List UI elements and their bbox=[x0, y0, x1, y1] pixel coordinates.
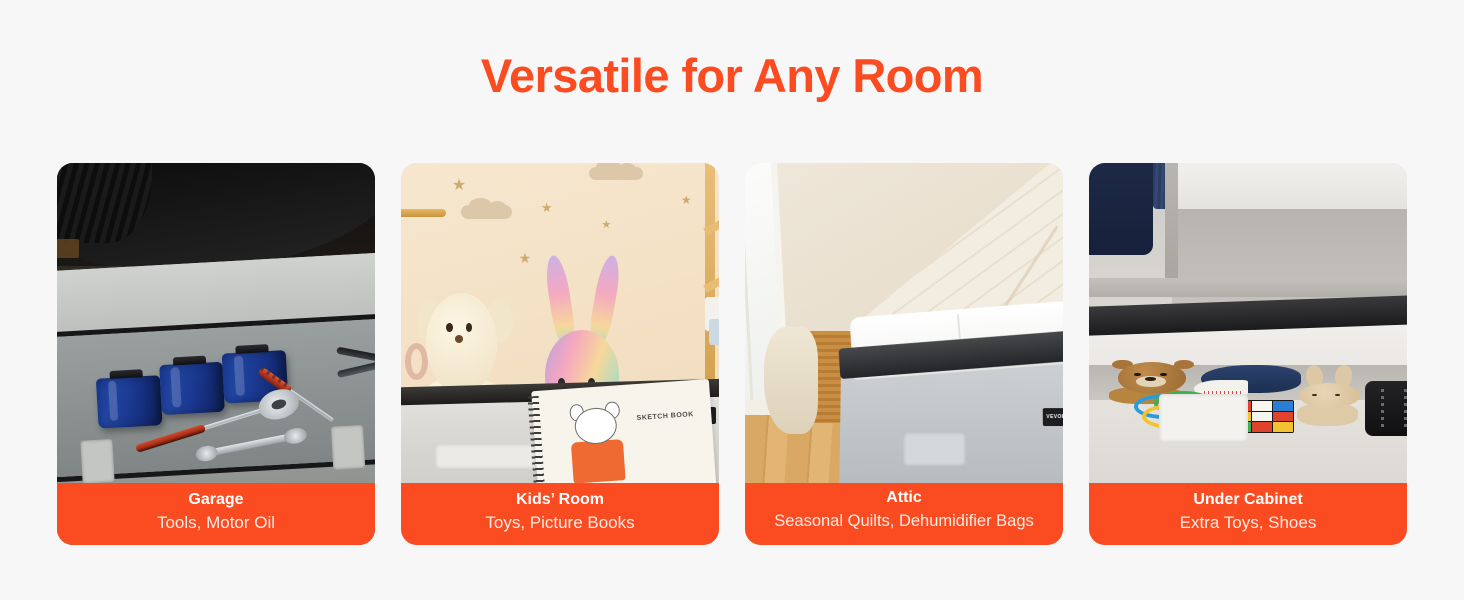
card-caption: Kids’ Room Toys, Picture Books bbox=[401, 483, 719, 545]
room-card-under-cabinet[interactable]: Under Cabinet Extra Toys, Shoes bbox=[1089, 163, 1407, 545]
card-subtitle: Extra Toys, Shoes bbox=[1097, 511, 1399, 535]
card-title: Kids’ Room bbox=[409, 489, 711, 511]
knit-throw bbox=[764, 327, 818, 434]
room-cards-grid: Garage Tools, Motor Oil ★ ★ ★ ★ ★ bbox=[57, 163, 1407, 545]
vevor-logo: VEVOR bbox=[1043, 408, 1063, 426]
card-caption: Under Cabinet Extra Toys, Shoes bbox=[1089, 483, 1407, 545]
bag-handle bbox=[903, 432, 966, 466]
bag-handle bbox=[331, 425, 366, 470]
bunny-plush bbox=[1294, 365, 1372, 426]
pliers bbox=[336, 353, 375, 376]
card-subtitle: Tools, Motor Oil bbox=[65, 511, 367, 535]
oil-bottle bbox=[159, 362, 225, 416]
oil-bottle bbox=[96, 375, 162, 429]
bag-handle bbox=[435, 444, 542, 468]
storage-bag bbox=[1089, 323, 1407, 483]
sketch-book-text: SKETCH BOOK bbox=[636, 409, 701, 422]
room-card-garage[interactable]: Garage Tools, Motor Oil bbox=[57, 163, 375, 545]
card-caption: Attic Seasonal Quilts, Dehumidifier Bags bbox=[745, 483, 1063, 545]
room-card-attic[interactable]: VEVOR Attic Seasonal Quilts, Dehumidifie… bbox=[745, 163, 1063, 545]
card-title: Attic bbox=[749, 487, 1059, 509]
card-title: Garage bbox=[65, 489, 367, 511]
versatile-for-any-room-banner: Versatile for Any Room bbox=[0, 0, 1464, 600]
room-card-kids-room[interactable]: ★ ★ ★ ★ ★ bbox=[401, 163, 719, 545]
bag-handle bbox=[80, 439, 115, 484]
card-caption: Garage Tools, Motor Oil bbox=[57, 483, 375, 545]
page-title: Versatile for Any Room bbox=[0, 48, 1464, 104]
wrench bbox=[201, 432, 301, 458]
hanging-jeans bbox=[1089, 163, 1153, 255]
black-boots bbox=[1365, 381, 1407, 436]
card-subtitle: Seasonal Quilts, Dehumidifier Bags bbox=[749, 509, 1059, 533]
card-subtitle: Toys, Picture Books bbox=[409, 511, 711, 535]
bag-handle bbox=[1159, 394, 1248, 442]
card-title: Under Cabinet bbox=[1097, 489, 1399, 511]
